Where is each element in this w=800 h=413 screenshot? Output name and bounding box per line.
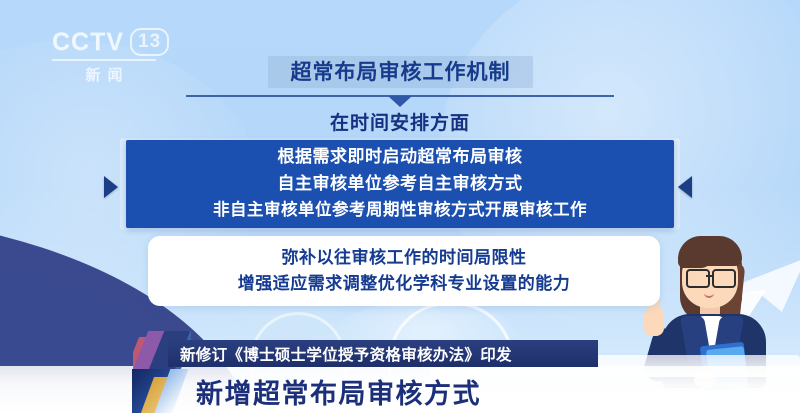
headline-decoration [132,369,190,413]
glasses-left-lens-icon [686,269,710,288]
blue-panel-line: 自主审核单位参考自主审核方式 [278,172,523,197]
chevron-right-icon [104,176,118,198]
presenter-fringe [678,248,712,268]
white-content-panel: 弥补以往审核工作的时间局限性 增强适应需求调整优化学科专业设置的能力 [148,236,660,306]
glasses-right-lens-icon [712,269,736,288]
blue-panel-line: 根据需求即时启动超常布局审核 [278,145,523,170]
white-panel-line: 增强适应需求调整优化学科专业设置的能力 [238,272,571,296]
blue-panel-line: 非自主审核单位参考周期性审核方式开展审核工作 [213,199,587,223]
lower-third-ticker: 新修订《博士硕士学位授予资格审核办法》印发 [168,340,598,367]
white-panel-line: 弥补以往审核工作的时间局限性 [282,246,527,270]
channel-logo-text: CCTV [52,30,124,55]
ticker-text: 新修订《博士硕士学位授予资格审核办法》印发 [180,343,512,365]
chevron-left-icon [678,176,692,198]
channel-logo-subtitle: 新闻 [52,64,156,85]
channel-logo: CCTV 13 新闻 [52,28,156,82]
blue-content-panel: 根据需求即时启动超常布局审核 自主审核单位参考自主审核方式 非自主审核单位参考周… [126,140,674,228]
section-subtitle: 在时间安排方面 [0,108,800,135]
page-title: 超常布局审核工作机制 [268,55,533,87]
glasses-bridge-icon [706,275,712,277]
triangle-down-icon [388,96,412,107]
channel-logo-rule [52,59,156,61]
channel-logo-number: 13 [130,28,169,56]
channel-logo-row: CCTV 13 [52,28,156,56]
broadcast-screen: CCTV 13 新闻 超常布局审核工作机制 在时间安排方面 根据需求即时启动超常… [0,0,800,413]
lower-third-headline: 新增超常布局审核方式 [196,372,481,411]
